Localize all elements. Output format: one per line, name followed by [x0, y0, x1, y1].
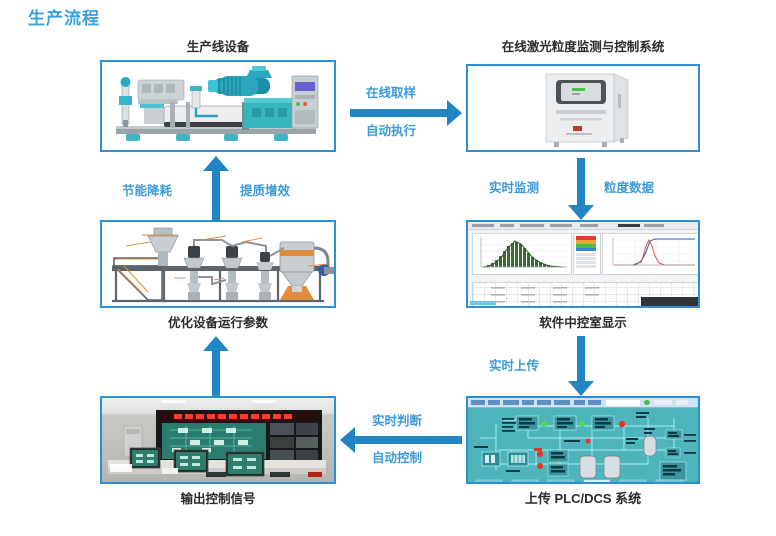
node-production-line-caption: 生产线设备 [96, 36, 340, 55]
particle-size-software-screenshot-illustration [468, 222, 698, 306]
node-output-control-signal[interactable]: 输出控制信号 [96, 396, 340, 514]
arrow-optimize-to-line [203, 156, 229, 222]
flow-diagram-canvas: 生产流程 生产线设备 [0, 0, 776, 536]
arrow-control-room-to-optimize [203, 336, 229, 396]
arrow-label-realtime-judgement: 实时判断 [372, 410, 422, 429]
data-table [472, 282, 698, 306]
node-optimize-parameters[interactable]: 优化设备运行参数 [96, 220, 340, 336]
powder-processing-plant-diagram-illustration [102, 222, 334, 306]
arrow-label-auto-control: 自动控制 [372, 447, 422, 466]
software-tab-row[interactable] [473, 275, 537, 280]
node-laser-particle-system[interactable]: 在线激光粒度监测与控制系统 [462, 36, 704, 156]
node-plc-dcs-system-caption: 上传 PLC/DCS 系统 [462, 488, 704, 507]
arrow-label-online-sampling: 在线取样 [366, 82, 416, 101]
node-production-line[interactable]: 生产线设备 [96, 36, 340, 156]
dcs-toolbar[interactable] [468, 398, 698, 408]
sand-mill-production-line-illustration [102, 62, 334, 150]
node-software-display-caption: 软件中控室显示 [462, 312, 704, 331]
arrow-label-realtime-upload: 实时上传 [489, 355, 539, 374]
arrow-laser-to-software [568, 158, 594, 220]
histogram-chart [472, 233, 572, 275]
arrow-label-quality-efficiency: 提质增效 [240, 180, 290, 199]
node-software-display[interactable]: 软件中控室显示 [462, 220, 704, 336]
arrow-label-auto-execute: 自动执行 [366, 120, 416, 139]
arrow-software-to-plc [568, 336, 594, 396]
arrow-label-energy-saving: 节能降耗 [122, 180, 172, 199]
table-footer-dark [641, 297, 698, 306]
node-plc-dcs-system[interactable]: 上传 PLC/DCS 系统 [462, 396, 704, 514]
node-laser-particle-system-caption: 在线激光粒度监测与控制系统 [462, 36, 704, 55]
central-control-room-photo-illustration [102, 398, 334, 482]
laser-particle-analyzer-cabinet-illustration [468, 66, 698, 150]
arrow-label-realtime-monitor: 实时监测 [489, 177, 539, 196]
arrow-label-particle-data: 粒度数据 [604, 177, 654, 196]
node-output-control-signal-frame [100, 396, 336, 484]
node-production-line-frame [100, 60, 336, 152]
node-plc-dcs-system-frame [466, 396, 700, 484]
page-title: 生产流程 [28, 4, 100, 29]
software-menubar [468, 222, 698, 230]
legend-panel [573, 233, 601, 275]
node-output-control-signal-caption: 输出控制信号 [96, 488, 340, 507]
node-laser-particle-system-frame [466, 64, 700, 152]
dcs-hmi-process-screen-illustration [468, 398, 698, 482]
software-status-bar [470, 301, 496, 305]
cumulative-curve-chart [602, 233, 698, 275]
node-software-display-frame [466, 220, 700, 308]
node-optimize-parameters-caption: 优化设备运行参数 [96, 312, 340, 331]
node-optimize-parameters-frame [100, 220, 336, 308]
